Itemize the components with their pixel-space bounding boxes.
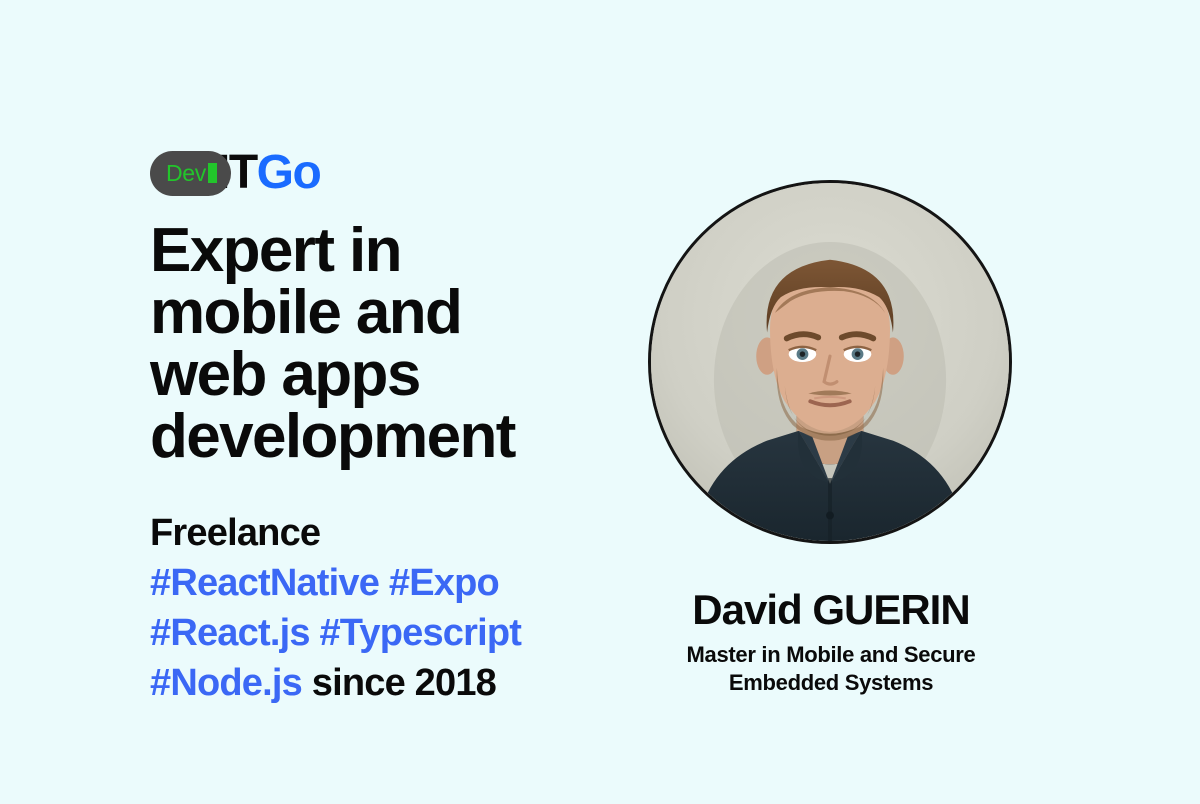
avatar [648, 180, 1012, 544]
profile-card: Dev ITGo Expert in mobile and web apps d… [0, 0, 1200, 804]
person-title-line-2: Embedded Systems [729, 670, 933, 695]
logo-go-text: Go [257, 146, 321, 199]
person-title-line-1: Master in Mobile and Secure [687, 642, 976, 667]
right-content-column: David GUERIN Master in Mobile and Secure… [648, 180, 1014, 696]
portrait-photo-icon [651, 183, 1009, 541]
tagline-block: Freelance #ReactNative #Expo #React.js #… [150, 508, 620, 709]
headline-line-1: Expert in [150, 216, 401, 285]
headline-line-4: development [150, 402, 515, 471]
tagline-tech-line-2: #React.js #Typescript [150, 608, 620, 658]
tagline-tech-line-3: #Node.js since 2018 [150, 658, 620, 708]
headline-line-3: web apps [150, 340, 420, 409]
tagline-tech-line-1: #ReactNative #Expo [150, 558, 620, 608]
left-content-column: Dev ITGo Expert in mobile and web apps d… [150, 148, 620, 709]
tagline-since-year: since 2018 [312, 662, 496, 704]
tag-typescript: #Typescript [319, 612, 521, 654]
logo-wordmark: ITGo [217, 149, 320, 197]
tag-nodejs: #Node.js [150, 662, 302, 704]
person-name: David GUERIN [648, 588, 1014, 632]
person-title: Master in Mobile and Secure Embedded Sys… [648, 641, 1014, 696]
logo-terminal-pill: Dev [150, 151, 231, 196]
devitgo-logo[interactable]: Dev ITGo [150, 148, 620, 198]
tag-expo: #Expo [389, 562, 499, 604]
logo-dev-text: Dev [166, 162, 206, 185]
tagline-role: Freelance [150, 508, 620, 558]
logo-cursor-icon [208, 163, 217, 183]
headline-line-2: mobile and [150, 278, 461, 347]
tag-reactjs: #React.js [150, 612, 310, 654]
tag-reactnative: #ReactNative [150, 562, 379, 604]
headline: Expert in mobile and web apps developmen… [150, 220, 580, 468]
